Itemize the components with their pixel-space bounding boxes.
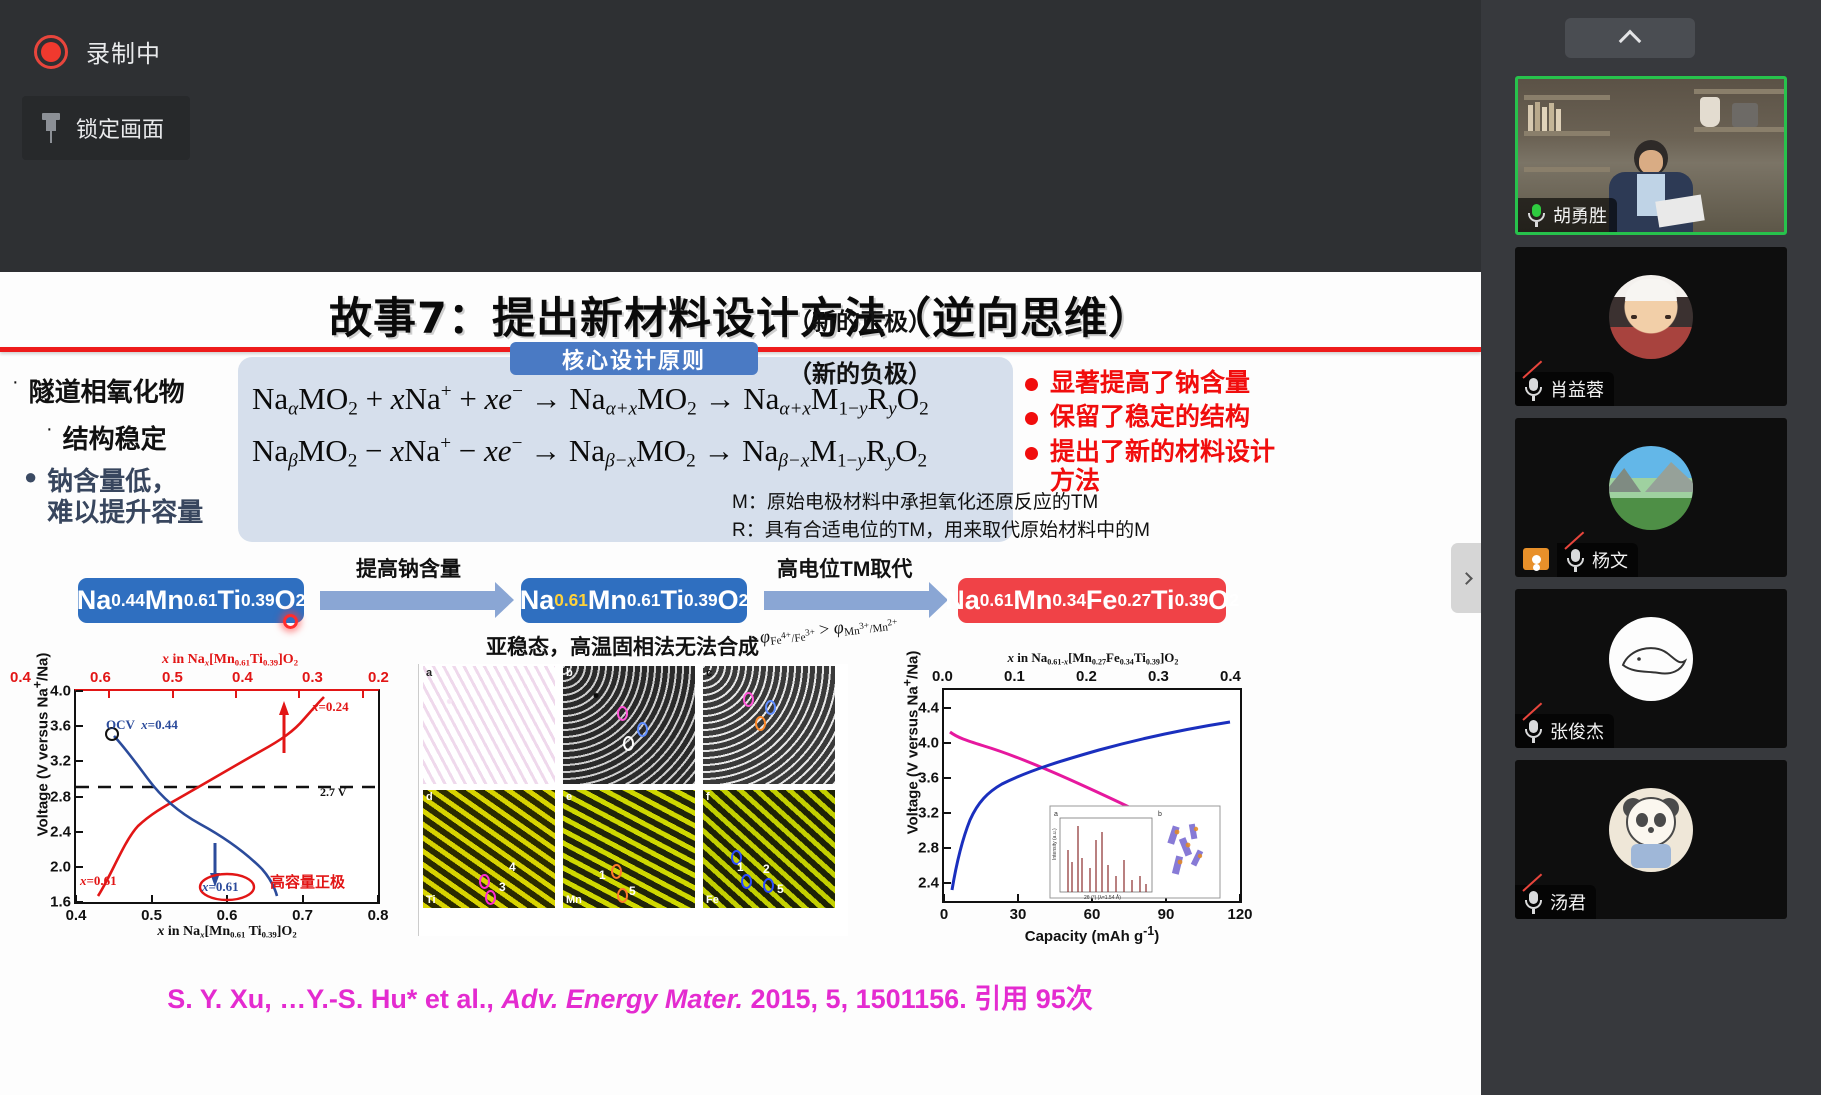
chart-a-annot-27v: 2.7 V	[320, 785, 346, 800]
panel-label-d: d	[426, 791, 433, 803]
panel-label-e: e	[566, 791, 572, 803]
svg-text:a: a	[1054, 811, 1058, 818]
avatar	[1609, 617, 1693, 701]
material-design-flow: Na0.44Mn0.61Ti0.39O2 提高钠含量 Na0.61Mn0.61T…	[0, 557, 1260, 657]
participant-name: 肖益蓉	[1550, 376, 1604, 402]
chart-c-plot: 2.4 2.8 3.2 3.6 4.0 4.4 0 30 60 90 120	[942, 688, 1242, 903]
marker-5: 5	[777, 882, 784, 896]
definition-r: R：具有合适电位的TM，用来取代原始材料中的M	[732, 515, 1150, 542]
page-title: 故事7：提出新材料设计方法（逆向思维）	[0, 284, 1481, 346]
citation-line: S. Y. Xu, …Y.-S. Hu* et al., Adv. Energy…	[0, 977, 1260, 1016]
marker-1: 1	[599, 868, 606, 882]
participant-tile[interactable]: 胡勇胜	[1515, 76, 1787, 235]
chart-a-xtick-top: 0.6	[90, 669, 111, 686]
chart-a-ylabel: Voltage (V versus Na+/Na)	[31, 650, 52, 840]
chart-a-annot-ocv: OCV x=0.44	[106, 717, 178, 733]
figure-row: x in Nax[Mn0.61Ti0.39]O2 Voltage (V vers…	[0, 650, 1260, 980]
bullet-label: 结构稳定	[63, 419, 167, 456]
flow-chip-start: Na0.44Mn0.61Ti0.39O2	[78, 578, 304, 623]
citation-journal: Adv. Energy Mater.	[501, 984, 743, 1014]
participant-name: 张俊杰	[1550, 718, 1604, 744]
marker-4: 4	[509, 860, 516, 874]
list-item: ● 钠含量低， 难以提升容量	[8, 466, 233, 527]
equation-anode: NaβMO2 − xNa+ − xe− → Naβ−xMO2 → Naβ−xM1…	[252, 433, 927, 472]
chart-a-xtick-top: 0.4	[10, 669, 31, 686]
chevron-up-icon	[1619, 30, 1642, 53]
participant-name: 胡勇胜	[1553, 202, 1607, 228]
left-bullet-list: · 隧道相氧化物 · 结构稳定 ● 钠含量低， 难以提升容量	[8, 372, 233, 537]
participant-tile[interactable]: 汤君	[1515, 760, 1787, 919]
chart-a-top-axis-title: x in Nax[Mn0.61Ti0.39]O2	[70, 652, 390, 668]
bullet-icon: ●	[24, 466, 37, 488]
list-item: 保留了稳定的结构	[1025, 403, 1275, 432]
element-label-fe: Fe	[706, 894, 719, 906]
micrograph-b: b	[563, 666, 695, 784]
expand-panel-button[interactable]	[1451, 543, 1481, 613]
bullet-label: 钠含量低， 难以提升容量	[47, 466, 203, 527]
chart-c-xtick-top: 0.0	[932, 668, 953, 685]
microphone-muted-icon	[1567, 549, 1584, 572]
bullet-icon: ·	[12, 372, 19, 392]
participant-tile[interactable]: 肖益蓉	[1515, 247, 1787, 406]
chart-c-xtick-top: 0.1	[1004, 668, 1025, 685]
chart-c-xtick-top: 0.2	[1076, 668, 1097, 685]
svg-text:b: b	[1158, 811, 1162, 818]
bullet-icon	[1025, 412, 1038, 425]
bullet-label: 提出了新的材料设计方法	[1050, 438, 1275, 497]
list-item: · 隧道相氧化物	[8, 372, 233, 409]
micrograph-c: c	[703, 666, 835, 784]
microphone-muted-icon	[1525, 378, 1542, 401]
chart-a-xtick-top: 0.5	[162, 669, 183, 686]
recording-label: 录制中	[86, 34, 161, 69]
chart-a-xtick-top: 0.4	[232, 669, 253, 686]
chart-c-series: a b	[944, 690, 1240, 901]
microphone-on-icon	[1528, 204, 1545, 227]
chart-a-annot-x061-circle: x=0.61	[202, 879, 239, 895]
panel-label-c: c	[706, 667, 712, 679]
element-label-mn: Mn	[566, 894, 582, 906]
host-badge-icon	[1523, 548, 1549, 570]
bullet-label: 保留了稳定的结构	[1050, 403, 1250, 432]
citation-detail: 2015, 5, 1501156. 引用 95次	[750, 984, 1092, 1014]
microphone-muted-icon	[1525, 720, 1542, 743]
flow-arrow-1	[320, 591, 496, 610]
collapse-rail-button[interactable]	[1565, 18, 1695, 58]
chart-a-annot-x024: x=0.24	[312, 699, 349, 715]
rail-header	[1481, 0, 1821, 76]
element-label-ti: Ti	[426, 894, 436, 906]
participant-tile[interactable]: 杨文	[1515, 418, 1787, 577]
pin-icon	[42, 113, 60, 143]
bullet-icon: ·	[46, 419, 53, 439]
marker-1: 1	[737, 860, 744, 874]
doodle-icon	[1609, 617, 1693, 701]
participant-name: 杨文	[1592, 547, 1628, 573]
chart-c-xlabel: Capacity (mAh g-1)	[942, 924, 1242, 945]
flow-arrow-2	[764, 591, 930, 610]
marker-3: 3	[499, 880, 506, 894]
micrograph-f-fe: f Fe 1 2 5	[703, 790, 835, 908]
participant-name: 汤君	[1550, 889, 1586, 915]
lock-screen-button[interactable]: 锁定画面	[22, 96, 190, 160]
chart-c: x in Na0.61-x[Mn0.27Fe0.34Ti0.39]O2 0.0 …	[878, 652, 1260, 952]
chevron-right-icon	[1460, 572, 1473, 585]
participant-tile[interactable]: 张俊杰	[1515, 589, 1787, 748]
chart-b: a b c d	[418, 664, 848, 936]
flow-chip-end: Na0.61Mn0.34Fe0.27Ti0.39O2	[958, 578, 1226, 623]
panda-icon	[1609, 788, 1693, 872]
panel-label-a: a	[426, 667, 432, 679]
equation-anode-tag: （新的负极）	[788, 354, 932, 389]
recording-toolbar: 录制中 锁定画面	[0, 6, 1481, 272]
bullet-label: 隧道相氧化物	[29, 372, 185, 409]
list-item: 显著提高了钠含量	[1025, 369, 1275, 398]
flow-label-2: 高电位TM取代	[777, 553, 912, 583]
micrograph-a: a	[423, 666, 555, 784]
svg-text:2θ (°) (λ=1.54 Å): 2θ (°) (λ=1.54 Å)	[1084, 894, 1121, 901]
panel-label-b: b	[566, 667, 573, 679]
svg-text:Intensity (a.u.): Intensity (a.u.)	[1052, 828, 1058, 860]
right-bullet-list: 显著提高了钠含量 保留了稳定的结构 提出了新的材料设计方法	[1025, 369, 1275, 501]
participant-namebar: 肖益蓉	[1515, 372, 1614, 406]
marker-2: 2	[763, 862, 770, 876]
chart-c-xtick-top: 0.4	[1220, 668, 1241, 685]
marker-5: 5	[629, 884, 636, 898]
equation-cathode-tag: （新的正极）	[788, 302, 932, 337]
flow-chip-middle: Na0.61Mn0.61Ti0.39O2	[521, 578, 747, 623]
panel-label-f: f	[706, 791, 710, 803]
chart-a-annot-x061-left: x=0.61	[80, 873, 117, 889]
flow-potential-note: φFe4+/Fe3+ > φMn3+/Mn2+	[759, 610, 899, 649]
flow-label-1: 提高钠含量	[356, 553, 461, 583]
meeting-window: 录制中 锁定画面 故事7：提出新材料设计方法（逆向思维） · 隧道相氧化物 ·	[0, 0, 1821, 1095]
micrograph-d-ti: d Ti 4 3	[423, 790, 555, 908]
microphone-muted-icon	[1525, 891, 1542, 914]
core-principle-badge: 核心设计原则	[510, 342, 758, 375]
presentation-slide: 故事7：提出新材料设计方法（逆向思维） · 隧道相氧化物 · 结构稳定 ● 钠含…	[0, 272, 1481, 1095]
chart-a-xlabel: x in Nax[Mn0.61 Ti0.39]O2	[74, 924, 380, 940]
chart-a-xtick-top: 0.2	[368, 669, 389, 686]
participant-namebar: 胡勇胜	[1518, 198, 1617, 232]
chart-c-top-axis-title: x in Na0.61-x[Mn0.27Fe0.34Ti0.39]O2	[928, 650, 1258, 666]
micrograph-e-mn: e Mn 1 5	[563, 790, 695, 908]
avatar	[1609, 275, 1693, 359]
chart-c-xtick-top: 0.3	[1148, 668, 1169, 685]
bullet-label: 显著提高了钠含量	[1050, 369, 1250, 398]
chart-a-xtick-top: 0.3	[302, 669, 323, 686]
record-icon	[34, 35, 68, 69]
avatar	[1609, 446, 1693, 530]
citation-authors: S. Y. Xu, …Y.-S. Hu* et al.,	[167, 984, 494, 1014]
avatar	[1609, 788, 1693, 872]
list-item: 提出了新的材料设计方法	[1025, 438, 1275, 497]
list-item: · 结构稳定	[8, 419, 233, 456]
participant-namebar: 汤君	[1515, 885, 1596, 919]
participant-namebar: 杨文	[1557, 543, 1638, 577]
participant-namebar: 张俊杰	[1515, 714, 1614, 748]
recording-indicator: 录制中	[34, 34, 161, 69]
chart-a-annot-high-capacity: 高容量正极	[270, 871, 345, 892]
bullet-icon	[1025, 378, 1038, 391]
chart-a-plot: 1.6 2.0 2.4 2.8 3.2 3.6 4.0 0.4 0.5 0.6 …	[74, 689, 380, 904]
shared-screen-stage: 录制中 锁定画面 故事7：提出新材料设计方法（逆向思维） · 隧道相氧化物 ·	[0, 0, 1481, 1095]
participant-rail: 胡勇胜 肖益蓉	[1481, 0, 1821, 1095]
bullet-icon	[1025, 447, 1038, 460]
participant-video-person	[1603, 140, 1699, 232]
chart-a: x in Nax[Mn0.61Ti0.39]O2 Voltage (V vers…	[10, 652, 390, 942]
cursor-highlight-icon	[283, 614, 298, 629]
lock-screen-label: 锁定画面	[76, 112, 164, 144]
